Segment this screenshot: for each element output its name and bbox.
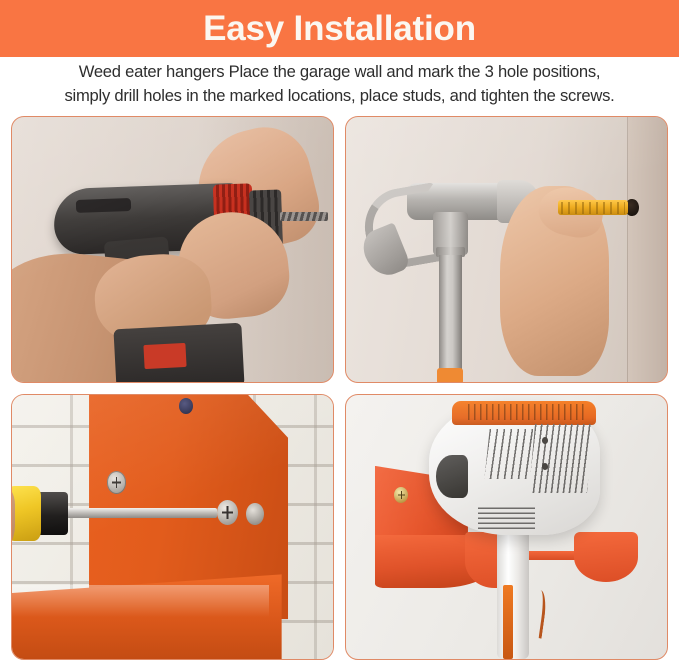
screwdriver-handle <box>11 486 41 542</box>
housing-bolt-upper <box>542 437 548 444</box>
wall-background <box>628 117 667 382</box>
trimmer-cable <box>529 590 548 639</box>
hammer-grip <box>437 368 463 382</box>
trimmer-vents-lower <box>478 506 536 530</box>
drill-bit <box>280 212 328 220</box>
photo-panel-step-2 <box>345 116 668 383</box>
trimmer-guard <box>436 455 468 497</box>
drill-vent <box>76 198 131 213</box>
instruction-line-1: Weed eater hangers Place the garage wall… <box>0 60 679 84</box>
hammer-shaft <box>439 255 461 371</box>
photo-grid <box>11 116 668 660</box>
trimmer-vents-right <box>529 424 593 493</box>
battery-label <box>143 343 186 369</box>
wall-anchor-ridges <box>561 202 625 214</box>
shelf-highlight <box>12 585 269 617</box>
page-title: Easy Installation <box>203 11 476 46</box>
photo-panel-step-4 <box>345 394 668 661</box>
screwdriver-shaft <box>51 508 218 518</box>
trimmer-vents-left <box>485 429 535 479</box>
screw-upper-left <box>107 471 126 493</box>
wall-corner-edge <box>627 117 629 382</box>
instruction-line-2: simply drill holes in the marked locatio… <box>0 84 679 108</box>
instruction-text: Weed eater hangers Place the garage wall… <box>0 60 679 108</box>
trimmer-top-vents <box>468 404 584 420</box>
trimmer-shaft <box>497 521 529 659</box>
hanger-arm-right <box>574 532 638 582</box>
photo-panel-step-1 <box>11 116 334 383</box>
infographic-page: Easy Installation Weed eater hangers Pla… <box>0 0 679 670</box>
header-banner: Easy Installation <box>0 0 679 57</box>
photo-panel-step-3 <box>11 394 334 661</box>
trimmer-shaft-stripe <box>503 585 513 659</box>
